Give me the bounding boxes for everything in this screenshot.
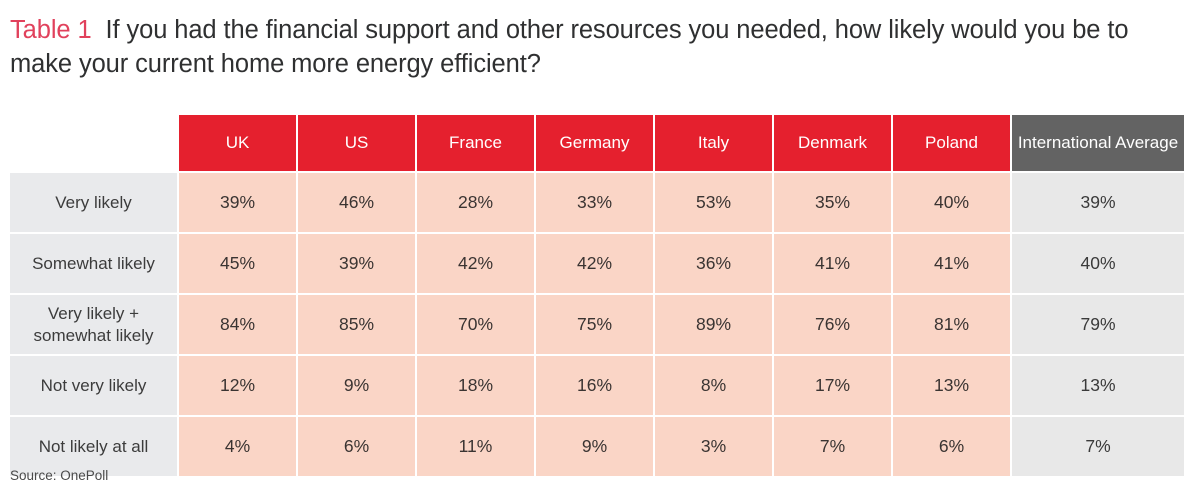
row-label-line-1: Very likely +: [48, 304, 139, 323]
cell-somewhat-likely-average: 40%: [1012, 234, 1184, 293]
table-row: Not likely at all 4% 6% 11% 9% 3% 7% 6% …: [10, 417, 1184, 476]
column-header-poland: Poland: [893, 115, 1010, 171]
cell-somewhat-likely-france: 42%: [417, 234, 534, 293]
cell-not-likely-at-all-us: 6%: [298, 417, 415, 476]
table-question-text: If you had the financial support and oth…: [10, 16, 1128, 78]
cell-very-plus-somewhat-germany: 75%: [536, 295, 653, 354]
cell-somewhat-likely-germany: 42%: [536, 234, 653, 293]
column-header-italy: Italy: [655, 115, 772, 171]
column-header-us: US: [298, 115, 415, 171]
cell-not-very-likely-germany: 16%: [536, 356, 653, 415]
cell-not-very-likely-us: 9%: [298, 356, 415, 415]
cell-not-likely-at-all-uk: 4%: [179, 417, 296, 476]
cell-somewhat-likely-poland: 41%: [893, 234, 1010, 293]
results-table: UK US France Germany Italy Denmark Polan…: [8, 113, 1186, 478]
cell-very-likely-poland: 40%: [893, 173, 1010, 232]
cell-not-likely-at-all-france: 11%: [417, 417, 534, 476]
column-header-uk: UK: [179, 115, 296, 171]
table-number-label: Table 1: [10, 16, 92, 44]
cell-very-plus-somewhat-us: 85%: [298, 295, 415, 354]
row-label-not-very-likely: Not very likely: [10, 356, 177, 415]
cell-not-very-likely-poland: 13%: [893, 356, 1010, 415]
cell-very-likely-average: 39%: [1012, 173, 1184, 232]
cell-very-likely-france: 28%: [417, 173, 534, 232]
cell-not-very-likely-italy: 8%: [655, 356, 772, 415]
cell-not-likely-at-all-poland: 6%: [893, 417, 1010, 476]
cell-very-likely-us: 46%: [298, 173, 415, 232]
table-container: UK US France Germany Italy Denmark Polan…: [8, 113, 1175, 478]
cell-very-plus-somewhat-uk: 84%: [179, 295, 296, 354]
table-header: UK US France Germany Italy Denmark Polan…: [10, 115, 1184, 171]
cell-very-plus-somewhat-france: 70%: [417, 295, 534, 354]
column-header-germany: Germany: [536, 115, 653, 171]
cell-not-very-likely-france: 18%: [417, 356, 534, 415]
cell-very-plus-somewhat-poland: 81%: [893, 295, 1010, 354]
table-figure: Table 1 If you had the financial support…: [0, 0, 1200, 500]
cell-not-likely-at-all-average: 7%: [1012, 417, 1184, 476]
cell-very-likely-uk: 39%: [179, 173, 296, 232]
table-row: Somewhat likely 45% 39% 42% 42% 36% 41% …: [10, 234, 1184, 293]
cell-somewhat-likely-italy: 36%: [655, 234, 772, 293]
source-note: Source: OnePoll: [10, 468, 108, 483]
row-label-very-likely: Very likely: [10, 173, 177, 232]
row-label-somewhat-likely: Somewhat likely: [10, 234, 177, 293]
cell-not-likely-at-all-denmark: 7%: [774, 417, 891, 476]
column-header-international-average: International Average: [1012, 115, 1184, 171]
table-header-row: UK US France Germany Italy Denmark Polan…: [10, 115, 1184, 171]
cell-not-very-likely-average: 13%: [1012, 356, 1184, 415]
cell-very-likely-italy: 53%: [655, 173, 772, 232]
column-header-france: France: [417, 115, 534, 171]
cell-somewhat-likely-uk: 45%: [179, 234, 296, 293]
cell-very-plus-somewhat-average: 79%: [1012, 295, 1184, 354]
cell-somewhat-likely-denmark: 41%: [774, 234, 891, 293]
column-header-denmark: Denmark: [774, 115, 891, 171]
cell-very-plus-somewhat-denmark: 76%: [774, 295, 891, 354]
row-label-very-plus-somewhat-likely: Very likely +somewhat likely: [10, 295, 177, 354]
table-row: Very likely +somewhat likely 84% 85% 70%…: [10, 295, 1184, 354]
table-row: Not very likely 12% 9% 18% 16% 8% 17% 13…: [10, 356, 1184, 415]
table-body: Very likely 39% 46% 28% 33% 53% 35% 40% …: [10, 173, 1184, 476]
column-header-blank: [10, 115, 177, 171]
cell-somewhat-likely-us: 39%: [298, 234, 415, 293]
figure-title-block: Table 1 If you had the financial support…: [0, 0, 1200, 82]
cell-not-likely-at-all-italy: 3%: [655, 417, 772, 476]
cell-very-likely-germany: 33%: [536, 173, 653, 232]
cell-not-likely-at-all-germany: 9%: [536, 417, 653, 476]
cell-not-very-likely-denmark: 17%: [774, 356, 891, 415]
cell-very-likely-denmark: 35%: [774, 173, 891, 232]
table-row: Very likely 39% 46% 28% 33% 53% 35% 40% …: [10, 173, 1184, 232]
cell-very-plus-somewhat-italy: 89%: [655, 295, 772, 354]
row-label-line-2: somewhat likely: [34, 326, 154, 345]
cell-not-very-likely-uk: 12%: [179, 356, 296, 415]
page-title: Table 1 If you had the financial support…: [10, 14, 1150, 82]
